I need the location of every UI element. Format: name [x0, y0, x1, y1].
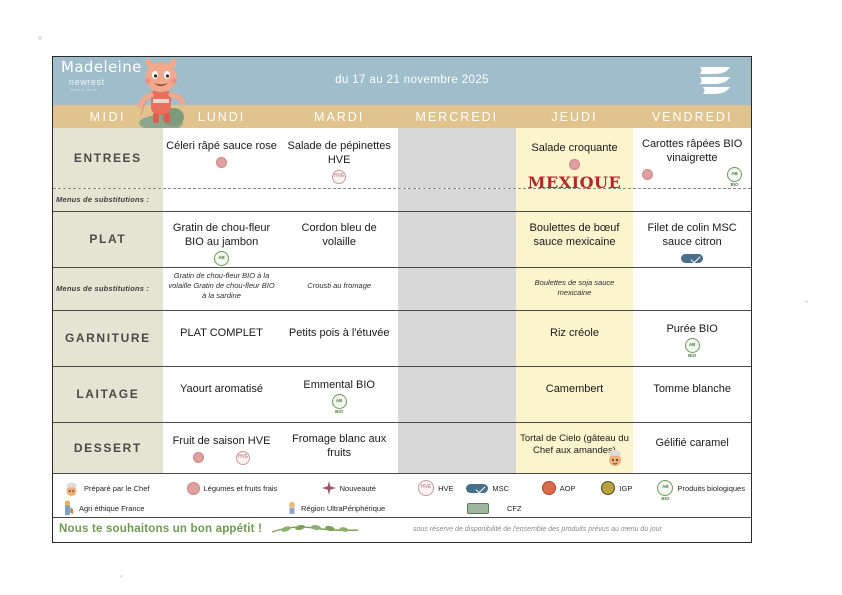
- legend-item-hve: HVE HVE: [418, 480, 466, 496]
- row-garniture: GARNITURE PLAT COMPLET Petits pois à l'é…: [53, 310, 751, 366]
- substitution-label-1: Menus de substitutions :: [53, 189, 163, 211]
- dish-text: Gélifié caramel: [636, 437, 748, 451]
- cell-plat-mercredi: [398, 212, 516, 267]
- day-header-mercredi: MERCREDI: [398, 110, 516, 124]
- legend-item-igp: IGP: [601, 481, 657, 495]
- cell-entrees-mercredi: [398, 128, 516, 188]
- cell-sub2-mercredi: [398, 268, 516, 310]
- menu-header: Madeleine newrest feed & serve: [53, 57, 751, 105]
- legend-row-1: Préparé par le Chef Légumes et fruits fr…: [59, 478, 745, 498]
- bio-icon: ABBIO: [727, 167, 742, 182]
- rup-icon: [287, 501, 297, 515]
- aop-icon: [542, 481, 556, 495]
- newrest-stripes-logo: [697, 65, 737, 97]
- cell-entrees-jeudi: Salade croquante MEXIQUE: [516, 128, 634, 188]
- row-entrees: ENTREES Céleri râpé sauce rose Salade de…: [53, 128, 751, 188]
- fresh-produce-icon: [187, 482, 200, 495]
- cell-icons: ABBIO: [636, 339, 748, 353]
- cell-icons: [636, 252, 748, 266]
- day-header-jeudi: JEUDI: [516, 110, 634, 124]
- day-header-vendredi: VENDREDI: [633, 110, 751, 124]
- fresh-produce-icon: [569, 159, 580, 170]
- cell-plat-jeudi: Boulettes de bœuf sauce mexicaine: [516, 212, 634, 267]
- cell-entrees-lundi: Céleri râpé sauce rose: [163, 128, 281, 188]
- legend-label: Préparé par le Chef: [84, 484, 149, 493]
- legend-label: MSC: [492, 484, 509, 493]
- dish-text: Cordon bleu de volaille: [283, 222, 395, 250]
- cell-sub1-jeudi: [516, 189, 634, 211]
- row-substitutions-2: Menus de substitutions : Gratin de chou-…: [53, 267, 751, 310]
- cell-dessert-lundi: Fruit de saison HVE HVE: [163, 423, 281, 473]
- msc-icon: [466, 484, 488, 493]
- legend-label: Région UltraPériphérique: [301, 504, 385, 513]
- cell-dessert-mercredi: [398, 423, 516, 473]
- cell-icons: ABBIO: [636, 168, 748, 182]
- msc-icon: [681, 254, 703, 263]
- cell-sub2-mardi: Crousti au fromage: [280, 268, 398, 310]
- dish-text: Purée BIO: [636, 323, 748, 337]
- chef-icon: [605, 447, 625, 467]
- cell-sub2-jeudi: Boulettes de soja sauce mexicaine: [516, 268, 634, 310]
- dish-text: Petits pois à l'étuvée: [283, 327, 395, 341]
- dish-text: Tomme blanche: [636, 383, 748, 397]
- cell-sub1-lundi: [163, 189, 281, 211]
- legend-item-fresh: Légumes et fruits frais: [187, 482, 322, 495]
- bio-icon: ABBIO: [657, 480, 673, 496]
- legend-item-agri-ethique: Agri éthique France: [62, 500, 287, 516]
- scan-speck: [805, 300, 808, 303]
- cell-icons: [519, 158, 631, 172]
- dish-text: Céleri râpé sauce rose: [166, 140, 278, 154]
- legend-item-rup: Région UltraPériphérique: [287, 501, 467, 515]
- scan-speck: [120, 575, 123, 578]
- legend-label: IGP: [619, 484, 632, 493]
- cell-plat-lundi: Gratin de chou-fleur BIO au jambon ABBIO: [163, 212, 281, 267]
- bio-icon: ABBIO: [332, 394, 347, 409]
- cell-entrees-vendredi: Carottes râpées BIO vinaigrette ABBIO: [633, 128, 751, 188]
- page-canvas: Madeleine newrest feed & serve: [0, 0, 842, 595]
- cell-dessert-mardi: Fromage blanc aux fruits: [280, 423, 398, 473]
- dish-text: Emmental BIO: [283, 379, 395, 393]
- cell-garniture-mercredi: [398, 311, 516, 366]
- legend-label: CFZ: [507, 504, 522, 513]
- dish-text: Salade de pépinettes HVE: [283, 140, 395, 168]
- cell-laitage-mercredi: [398, 367, 516, 422]
- cell-plat-vendredi: Filet de colin MSC sauce citron: [633, 212, 751, 267]
- bio-icon: ABBIO: [214, 251, 229, 266]
- dish-text: Boulettes de bœuf sauce mexicaine: [519, 222, 631, 250]
- fresh-produce-icon: [642, 169, 653, 180]
- fresh-produce-icon: [216, 157, 227, 168]
- dish-text: Yaourt aromatisé: [166, 383, 278, 397]
- cell-plat-mardi: Cordon bleu de volaille: [280, 212, 398, 267]
- cell-icons: ABBIO: [166, 252, 278, 266]
- bio-icon: ABBIO: [685, 338, 700, 353]
- row-dessert: DESSERT Fruit de saison HVE HVE Fromage …: [53, 422, 751, 473]
- cell-sub2-lundi: Gratin de chou-fleur BIO à la volaille G…: [163, 268, 281, 310]
- cell-garniture-lundi: PLAT COMPLET: [163, 311, 281, 366]
- cell-sub1-mardi: [280, 189, 398, 211]
- disclaimer-text: sous réserve de disponibilité de l'ensem…: [413, 526, 662, 533]
- menu-sheet: Madeleine newrest feed & serve: [52, 56, 752, 543]
- igp-icon: [601, 481, 615, 495]
- row-plat: PLAT Gratin de chou-fleur BIO au jambon …: [53, 211, 751, 267]
- legend-label: AOP: [560, 484, 576, 493]
- substitution-label-2: Menus de substitutions :: [53, 268, 163, 310]
- cell-icons: ABBIO: [283, 395, 395, 409]
- cell-garniture-mardi: Petits pois à l'étuvée: [280, 311, 398, 366]
- cell-icons: HVE: [283, 170, 395, 184]
- cell-garniture-jeudi: Riz créole: [516, 311, 634, 366]
- dish-text: Filet de colin MSC sauce citron: [636, 222, 748, 250]
- cell-laitage-lundi: Yaourt aromatisé: [163, 367, 281, 422]
- row-label-garniture: GARNITURE: [53, 311, 163, 366]
- dish-text: Carottes râpées BIO vinaigrette: [636, 138, 748, 166]
- dish-text: Riz créole: [519, 327, 631, 341]
- row-substitutions-1: Menus de substitutions :: [53, 188, 751, 211]
- dish-text: Camembert: [519, 383, 631, 397]
- dish-text: Salade croquante: [519, 142, 631, 156]
- cell-sub2-vendredi: [633, 268, 751, 310]
- fresh-produce-icon: [193, 452, 204, 463]
- cell-dessert-jeudi: Tortal de Cielo (gâteau du Chef aux aman…: [516, 423, 634, 473]
- legend-item-bio: ABBIO Produits biologiques: [657, 480, 745, 496]
- legend-label: Produits biologiques: [677, 484, 745, 493]
- cell-laitage-vendredi: Tomme blanche: [633, 367, 751, 422]
- cell-laitage-jeudi: Camembert: [516, 367, 634, 422]
- legend-item-aop: AOP: [542, 481, 602, 495]
- legend-block: Préparé par le Chef Légumes et fruits fr…: [53, 473, 751, 517]
- bon-appetit-text: Nous te souhaitons un bon appétit !: [59, 523, 262, 535]
- legend-label: Nouveauté: [340, 484, 376, 493]
- legend-item-crz: CFZ: [467, 503, 522, 514]
- row-label-dessert: DESSERT: [53, 423, 163, 473]
- agri-ethique-icon: [62, 500, 75, 516]
- cell-icons: [166, 156, 278, 170]
- row-label-entrees: ENTREES: [53, 128, 163, 188]
- cell-laitage-mardi: Emmental BIO ABBIO: [280, 367, 398, 422]
- scan-speck: [38, 36, 42, 40]
- cell-entrees-mardi: Salade de pépinettes HVE HVE: [280, 128, 398, 188]
- footer-block: Nous te souhaitons un bon appétit ! sous…: [53, 517, 751, 540]
- cell-icons: HVE: [166, 451, 278, 465]
- cell-sub1-vendredi: [633, 189, 751, 211]
- leaf-sprig-icon: [270, 523, 360, 535]
- dish-text: Fruit de saison HVE: [166, 435, 278, 449]
- row-laitage: LAITAGE Yaourt aromatisé Emmental BIO AB…: [53, 366, 751, 422]
- menu-grid: Menu Végétarien NOMAD ENTREES Céleri râp…: [53, 128, 751, 473]
- cell-dessert-vendredi: Gélifié caramel: [633, 423, 751, 473]
- legend-label: HVE: [438, 484, 453, 493]
- row-label-laitage: LAITAGE: [53, 367, 163, 422]
- legend-item-new: Nouveauté: [322, 481, 419, 495]
- row-label-plat: PLAT: [53, 212, 163, 267]
- legend-row-2: Agri éthique France Région UltraPériphér…: [59, 498, 745, 518]
- date-range: du 17 au 21 novembre 2025: [53, 74, 751, 86]
- chef-icon: [63, 480, 80, 497]
- cell-garniture-vendredi: Purée BIO ABBIO: [633, 311, 751, 366]
- legend-item-msc: MSC: [466, 484, 541, 493]
- crz-icon: [467, 503, 489, 514]
- dish-text: Gratin de chou-fleur BIO au jambon: [166, 222, 278, 250]
- hve-icon: HVE: [418, 480, 434, 496]
- day-header-mardi: MARDI: [280, 110, 398, 124]
- legend-label: Légumes et fruits frais: [204, 484, 278, 493]
- dish-text: PLAT COMPLET: [166, 327, 278, 341]
- hve-icon: HVE: [332, 170, 346, 184]
- mascot-character-icon: [127, 56, 197, 133]
- hve-icon: HVE: [236, 451, 250, 465]
- legend-label: Agri éthique France: [79, 504, 144, 513]
- cell-sub1-mercredi: [398, 189, 516, 211]
- dish-text: Fromage blanc aux fruits: [283, 433, 395, 461]
- new-star-icon: [322, 481, 336, 495]
- legend-item-chef: Préparé par le Chef: [59, 480, 187, 497]
